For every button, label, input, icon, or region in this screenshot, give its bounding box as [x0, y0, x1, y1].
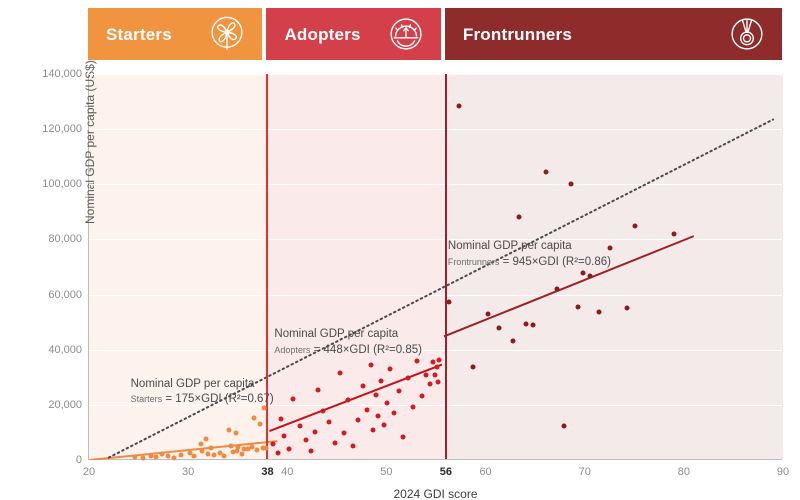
- data-point: [337, 371, 342, 376]
- annotation-line-1: Nominal GDP per capita: [448, 239, 611, 255]
- data-point: [360, 383, 365, 388]
- data-point: [633, 224, 638, 229]
- data-point: [531, 323, 536, 328]
- data-point: [160, 452, 165, 457]
- category-band-adopters: Adopters: [266, 8, 440, 60]
- data-point: [154, 454, 159, 459]
- data-point: [456, 104, 461, 109]
- data-point: [257, 421, 262, 426]
- category-band-frontrunners: Frontrunners: [445, 8, 782, 60]
- data-point: [511, 338, 516, 343]
- data-point: [313, 429, 318, 434]
- data-point: [373, 392, 378, 397]
- data-point: [554, 286, 559, 291]
- data-point: [397, 388, 402, 393]
- data-point: [239, 451, 244, 456]
- category-band-label: Frontrunners: [463, 26, 572, 43]
- data-point: [309, 449, 314, 454]
- frontrunners-annotation: Nominal GDP per capitaFrontrunners = 945…: [448, 239, 611, 270]
- data-point: [385, 401, 390, 406]
- data-point: [596, 309, 601, 314]
- data-point: [524, 321, 529, 326]
- annotation-equation: = 448×GDI (R²=0.85): [310, 344, 422, 356]
- data-point: [316, 387, 321, 392]
- data-point: [233, 431, 238, 436]
- data-point: [179, 453, 184, 458]
- data-point: [200, 448, 205, 453]
- data-point: [221, 453, 226, 458]
- y-axis-tick-label: 100,000: [42, 178, 82, 190]
- data-point: [671, 232, 676, 237]
- y-axis-tick-label: 140,000: [42, 68, 82, 80]
- data-point: [304, 437, 309, 442]
- data-point: [205, 452, 210, 457]
- data-point: [320, 409, 325, 414]
- data-point: [279, 417, 284, 422]
- speedometer-icon: [385, 13, 427, 55]
- data-point: [326, 420, 331, 425]
- annotation-group-name: Adopters: [274, 345, 310, 355]
- data-point: [470, 365, 475, 370]
- data-point: [544, 169, 549, 174]
- y-axis-tick-label: 120,000: [42, 123, 82, 135]
- x-axis-tick-label: 80: [678, 466, 690, 478]
- data-point: [382, 422, 387, 427]
- data-point: [433, 373, 438, 378]
- data-point: [228, 443, 233, 448]
- data-point: [264, 445, 269, 450]
- category-band-label: Starters: [106, 26, 172, 43]
- data-point: [211, 453, 216, 458]
- x-axis-tick-label: 20: [83, 466, 95, 478]
- data-point: [226, 427, 231, 432]
- x-axis-tick-label: 50: [380, 466, 392, 478]
- data-point: [568, 181, 573, 186]
- data-point: [436, 357, 441, 362]
- starters-annotation: Nominal GDP per capitaStarters = 175×GDI…: [131, 377, 274, 408]
- data-point: [235, 444, 240, 449]
- data-point: [420, 394, 425, 399]
- annotation-group-name: Frontrunners: [448, 257, 500, 267]
- data-point: [276, 450, 281, 455]
- data-point: [271, 441, 276, 446]
- category-band-label: Adopters: [284, 26, 360, 43]
- data-point: [401, 434, 406, 439]
- annotation-equation: = 945×GDI (R²=0.86): [499, 256, 611, 268]
- data-point: [254, 447, 259, 452]
- data-point: [392, 410, 397, 415]
- data-point: [428, 382, 433, 387]
- data-point: [485, 312, 490, 317]
- x-axis-title: 2024 GDI score: [393, 487, 477, 500]
- data-point: [166, 454, 171, 459]
- data-point: [376, 414, 381, 419]
- data-point: [411, 404, 416, 409]
- data-point: [434, 364, 439, 369]
- y-axis-tick-label: 60,000: [48, 289, 82, 301]
- data-point: [287, 446, 292, 451]
- category-band-starters: Starters: [88, 8, 262, 60]
- x-axis-tick-label: 40: [281, 466, 293, 478]
- data-point: [575, 305, 580, 310]
- data-point: [368, 363, 373, 368]
- data-point: [350, 444, 355, 449]
- data-point: [140, 455, 145, 460]
- annotation-line-2: Frontrunners = 945×GDI (R²=0.86): [448, 255, 611, 271]
- annotation-group-name: Starters: [131, 394, 163, 404]
- data-point: [587, 273, 592, 278]
- data-point: [424, 372, 429, 377]
- data-point: [203, 437, 208, 442]
- data-point: [341, 430, 346, 435]
- medal-icon: [726, 13, 768, 55]
- data-point: [208, 446, 213, 451]
- x-axis-tick-label: 38: [261, 466, 273, 478]
- x-axis-tick-label: 30: [182, 466, 194, 478]
- zone-divider-56: [445, 74, 447, 459]
- scatter-plot: Nominal GDP per capita (US$) 2024 GDI sc…: [88, 74, 782, 460]
- annotation-line-2: Adopters = 448×GDI (R²=0.85): [274, 343, 422, 359]
- data-point: [298, 424, 303, 429]
- data-point: [199, 441, 204, 446]
- data-point: [497, 326, 502, 331]
- data-point: [379, 378, 384, 383]
- data-point: [561, 424, 566, 429]
- data-point: [435, 380, 440, 385]
- x-axis-tick-label: 70: [579, 466, 591, 478]
- x-axis-tick-label: 60: [479, 466, 491, 478]
- data-point: [446, 300, 451, 305]
- x-axis-tick-label: 90: [777, 466, 789, 478]
- pinwheel-icon: [206, 13, 248, 55]
- data-point: [355, 418, 360, 423]
- annotation-line-1: Nominal GDP per capita: [131, 377, 274, 393]
- y-axis-tick-label: 0: [76, 454, 82, 466]
- y-axis-tick-label: 40,000: [48, 344, 82, 356]
- data-point: [192, 454, 197, 459]
- annotation-equation: = 175×GDI (R²=0.67): [162, 393, 274, 405]
- annotation-line-1: Nominal GDP per capita: [274, 327, 422, 343]
- data-point: [251, 415, 256, 420]
- category-band-header: Starters Adopters Frontrunners: [0, 8, 800, 60]
- y-axis-tick-label: 20,000: [48, 399, 82, 411]
- annotation-line-2: Starters = 175×GDI (R²=0.67): [131, 392, 274, 408]
- data-point: [625, 305, 630, 310]
- data-point: [415, 359, 420, 364]
- data-point: [282, 433, 287, 438]
- data-point: [406, 376, 411, 381]
- y-axis-tick-label: 80,000: [48, 233, 82, 245]
- data-point: [364, 407, 369, 412]
- data-point: [370, 427, 375, 432]
- data-point: [580, 270, 585, 275]
- data-point: [332, 440, 337, 445]
- data-point: [132, 454, 137, 459]
- data-point: [172, 455, 177, 460]
- chart-area: Nominal GDP per capita (US$) 2024 GDI sc…: [0, 60, 800, 500]
- data-point: [517, 215, 522, 220]
- x-axis-tick-label: 56: [440, 466, 452, 478]
- adopters-annotation: Nominal GDP per capitaAdopters = 448×GDI…: [274, 327, 422, 358]
- data-point: [388, 366, 393, 371]
- data-point: [345, 397, 350, 402]
- data-point: [291, 396, 296, 401]
